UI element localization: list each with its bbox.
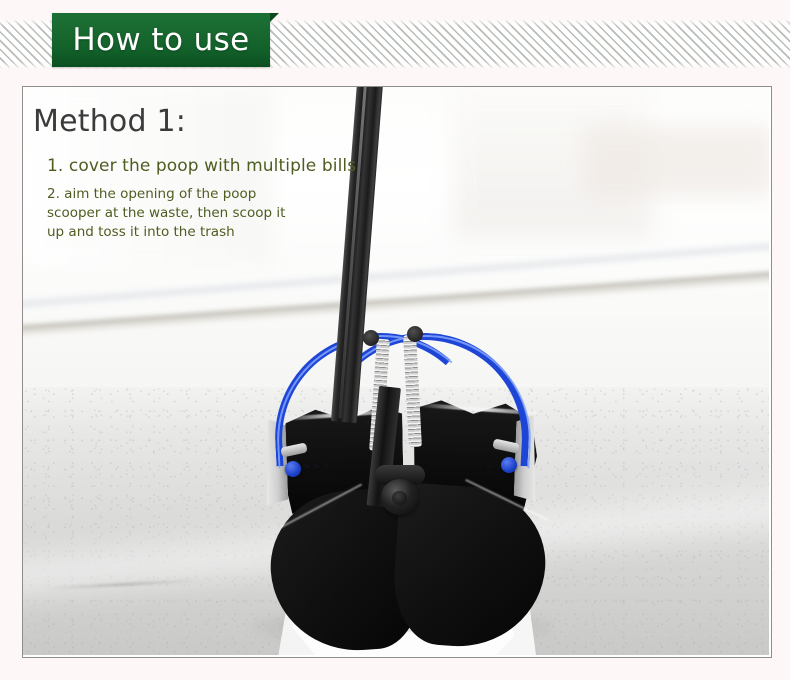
arm-connector-left	[363, 330, 379, 346]
method-title: Method 1:	[33, 105, 413, 138]
instruction-photo: Method 1: 1. cover the poop with multipl…	[22, 86, 772, 658]
instruction-step-2: 2. aim the opening of the poop scooper a…	[47, 185, 413, 242]
photo-scene: Method 1: 1. cover the poop with multipl…	[23, 87, 769, 655]
pivot-knob-right	[501, 457, 517, 473]
instruction-step-1: 1. cover the poop with multiple bills	[47, 156, 413, 176]
pivot-knob-left	[285, 461, 301, 477]
instruction-overlay: Method 1: 1. cover the poop with multipl…	[33, 105, 413, 242]
how-to-use-banner: How to use	[0, 0, 790, 85]
ribbon-fold-notch	[270, 13, 279, 22]
arm-connector-right	[407, 326, 423, 342]
jaw-hinge-bolt	[392, 491, 407, 505]
section-ribbon: How to use	[52, 13, 270, 67]
instruction-step-2-line-1: 2. aim the opening of the poop	[47, 185, 413, 204]
section-ribbon-label: How to use	[52, 13, 270, 67]
instruction-step-2-line-3: up and toss it into the trash	[47, 223, 413, 242]
instruction-step-2-line-2: scooper at the waste, then scoop it	[47, 204, 413, 223]
